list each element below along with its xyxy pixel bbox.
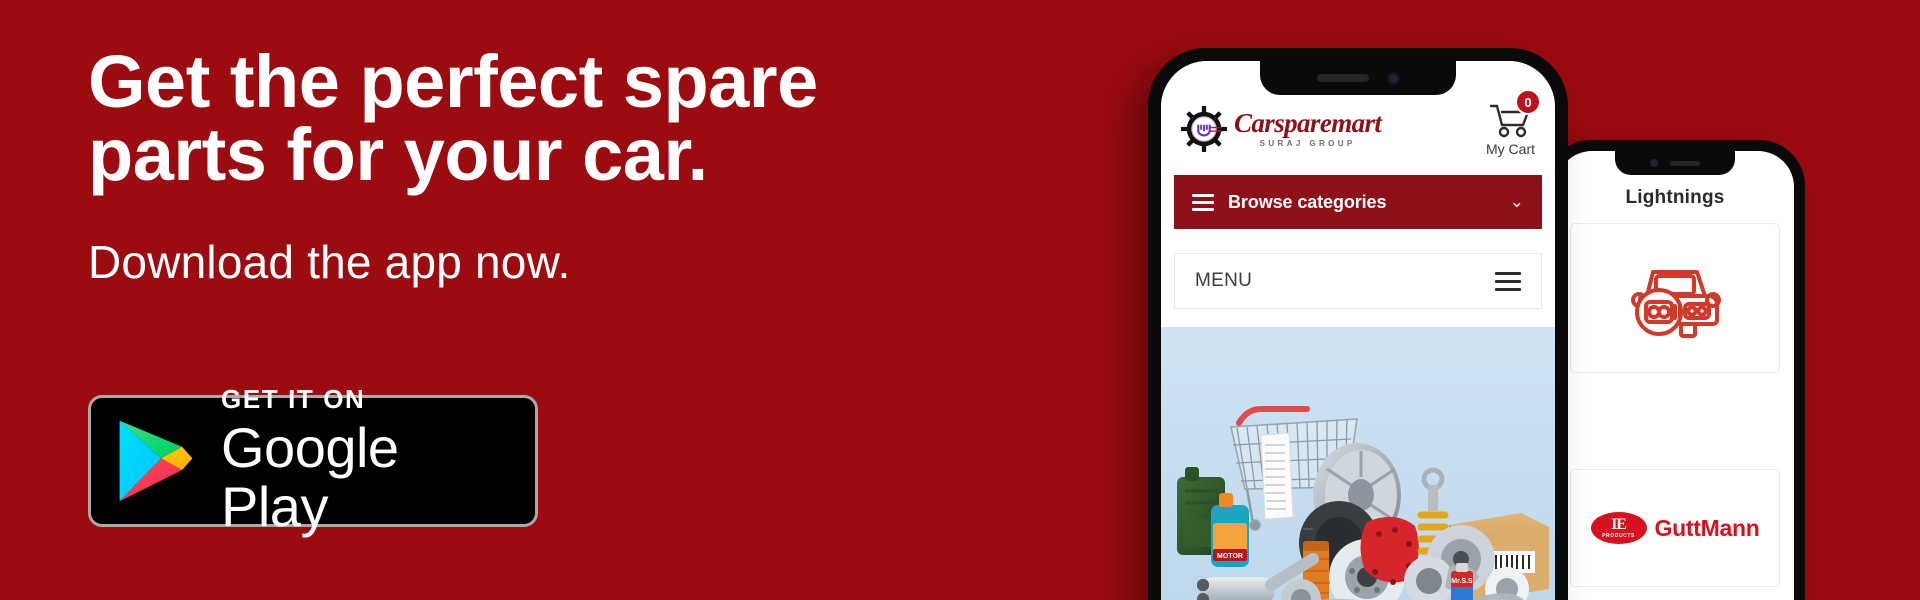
brand-tagline: SURAJ GROUP: [1234, 140, 1381, 148]
category-tile-lightnings[interactable]: [1570, 223, 1780, 373]
cart-button[interactable]: 0 My Cart: [1486, 101, 1535, 157]
brand-tile-guttmann[interactable]: IE PRODUCTS GuttMann: [1570, 469, 1780, 587]
chevron-down-icon: ⌄: [1510, 192, 1524, 212]
ie-mark-text: IE: [1611, 517, 1626, 533]
auto-parts-illustration: MOTOR: [1161, 327, 1555, 600]
category-title: Lightnings: [1556, 187, 1794, 209]
cart-count-badge: 0: [1515, 89, 1541, 115]
gear-logo-icon: [1181, 106, 1227, 152]
brand-logo[interactable]: Carsparemart SURAJ GROUP: [1181, 106, 1381, 152]
menu-label: MENU: [1195, 270, 1252, 292]
phone-mockup-primary: Carsparemart SURAJ GROUP 0 My Cart: [1148, 48, 1568, 600]
phone-mockup-secondary: Lightnings: [1545, 140, 1805, 600]
hamburger-icon: [1495, 272, 1521, 291]
front-camera-icon: [1650, 159, 1658, 167]
guttmann-logo: IE PRODUCTS GuttMann: [1591, 512, 1760, 544]
browse-categories-label: Browse categories: [1228, 192, 1510, 213]
google-play-triangle-icon: [117, 418, 195, 504]
earpiece-speaker-icon: [1317, 74, 1369, 82]
brand-name: Carsparemart: [1234, 110, 1381, 137]
guttmann-name: GuttMann: [1655, 515, 1760, 542]
svg-text:MOTOR: MOTOR: [1217, 553, 1243, 560]
google-play-top-label: GET IT ON: [221, 386, 513, 412]
svg-text:Mr.S.S: Mr.S.S: [1451, 578, 1473, 585]
phone-notch: [1260, 61, 1456, 95]
cart-label: My Cart: [1486, 141, 1535, 157]
google-play-bottom-label: Google Play: [221, 419, 513, 537]
promo-banner: Get the perfect spare parts for your car…: [0, 0, 1920, 600]
ie-products-mark-icon: IE PRODUCTS: [1591, 512, 1647, 544]
hamburger-icon: [1192, 194, 1214, 211]
phone-screen-secondary: Lightnings: [1556, 151, 1794, 600]
phone-notch: [1615, 151, 1735, 175]
browse-categories-bar[interactable]: Browse categories ⌄: [1174, 175, 1542, 229]
copy-block: Get the perfect spare parts for your car…: [88, 46, 968, 289]
phone-screen-primary: Carsparemart SURAJ GROUP 0 My Cart: [1161, 61, 1555, 600]
earpiece-speaker-icon: [1670, 161, 1700, 166]
page-title: Get the perfect spare parts for your car…: [88, 46, 968, 191]
page-subtitle: Download the app now.: [88, 235, 968, 289]
car-headlight-icon: [1623, 250, 1727, 346]
ie-mark-sub: PRODUCTS: [1602, 534, 1635, 539]
google-play-badge[interactable]: GET IT ON Google Play: [88, 395, 538, 527]
front-camera-icon: [1387, 72, 1400, 85]
menu-row[interactable]: MENU: [1174, 253, 1542, 309]
hero-product-image: MOTOR: [1161, 327, 1555, 600]
